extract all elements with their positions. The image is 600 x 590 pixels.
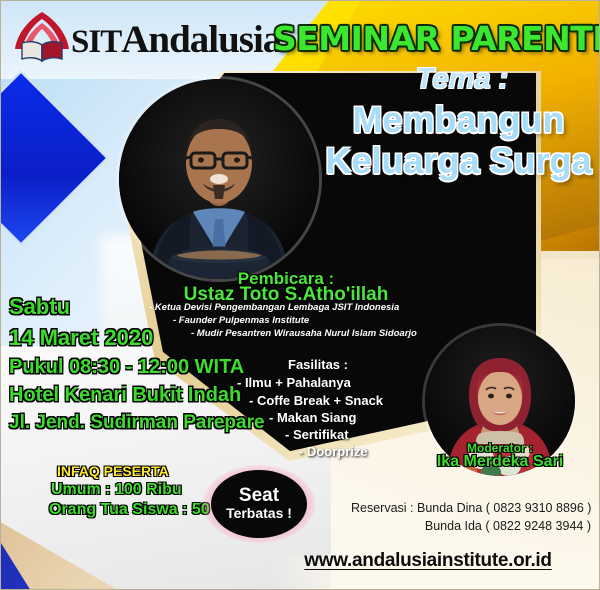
- contact-line-2: Bunda Ida ( 0822 9248 3944 ): [351, 517, 591, 535]
- facility-item: - Doorprize: [233, 443, 403, 460]
- website-link[interactable]: www.andalusiainstitute.or.id: [263, 550, 593, 572]
- brand-name-prefix: SIT: [71, 24, 121, 60]
- facilities-heading: Fasilitas :: [233, 356, 403, 373]
- facilities-list: Fasilitas : - Ilmu + Pahalanya - Coffe B…: [233, 356, 403, 461]
- seminar-poster: SITAndalusia SEMINAR PARENTING Tema : Me…: [0, 0, 600, 590]
- moderator-name: Ika Merdeka Sari: [415, 453, 585, 471]
- theme-value: Membangun Keluarga Surga: [321, 99, 596, 181]
- mosque-book-logo-icon: [9, 9, 75, 67]
- contact-line-1: Reservasi : Bunda Dina ( 0823 9310 8896 …: [351, 499, 591, 517]
- status-badge: Seat Terbatas !: [211, 470, 307, 538]
- event-date: 14 Maret 2020: [9, 325, 244, 351]
- seat-badge-line1: Seat: [239, 486, 279, 506]
- brand-name: SITAndalusia: [71, 17, 281, 62]
- theme-label: Tema :: [331, 63, 593, 96]
- page-title: SEMINAR PARENTING: [273, 19, 595, 58]
- brand-name-main: Andalusia: [121, 18, 281, 61]
- event-address: Jl. Jend. Sudirman Parepare: [9, 412, 244, 434]
- facility-item: - Coffe Break + Snack: [233, 392, 403, 409]
- contact-info: Reservasi : Bunda Dina ( 0823 9310 8896 …: [351, 499, 591, 535]
- event-day: Sabtu: [9, 294, 244, 320]
- seat-badge-line2: Terbatas !: [226, 506, 292, 521]
- speaker-photo: [119, 79, 319, 279]
- facility-item: - Ilmu + Pahalanya: [233, 374, 403, 391]
- event-time: Pukul 08:30 - 12:00 WITA: [9, 356, 244, 379]
- event-venue: Hotel Kenari Bukit Indah: [9, 384, 244, 407]
- event-details: Sabtu 14 Maret 2020 Pukul 08:30 - 12:00 …: [9, 294, 244, 439]
